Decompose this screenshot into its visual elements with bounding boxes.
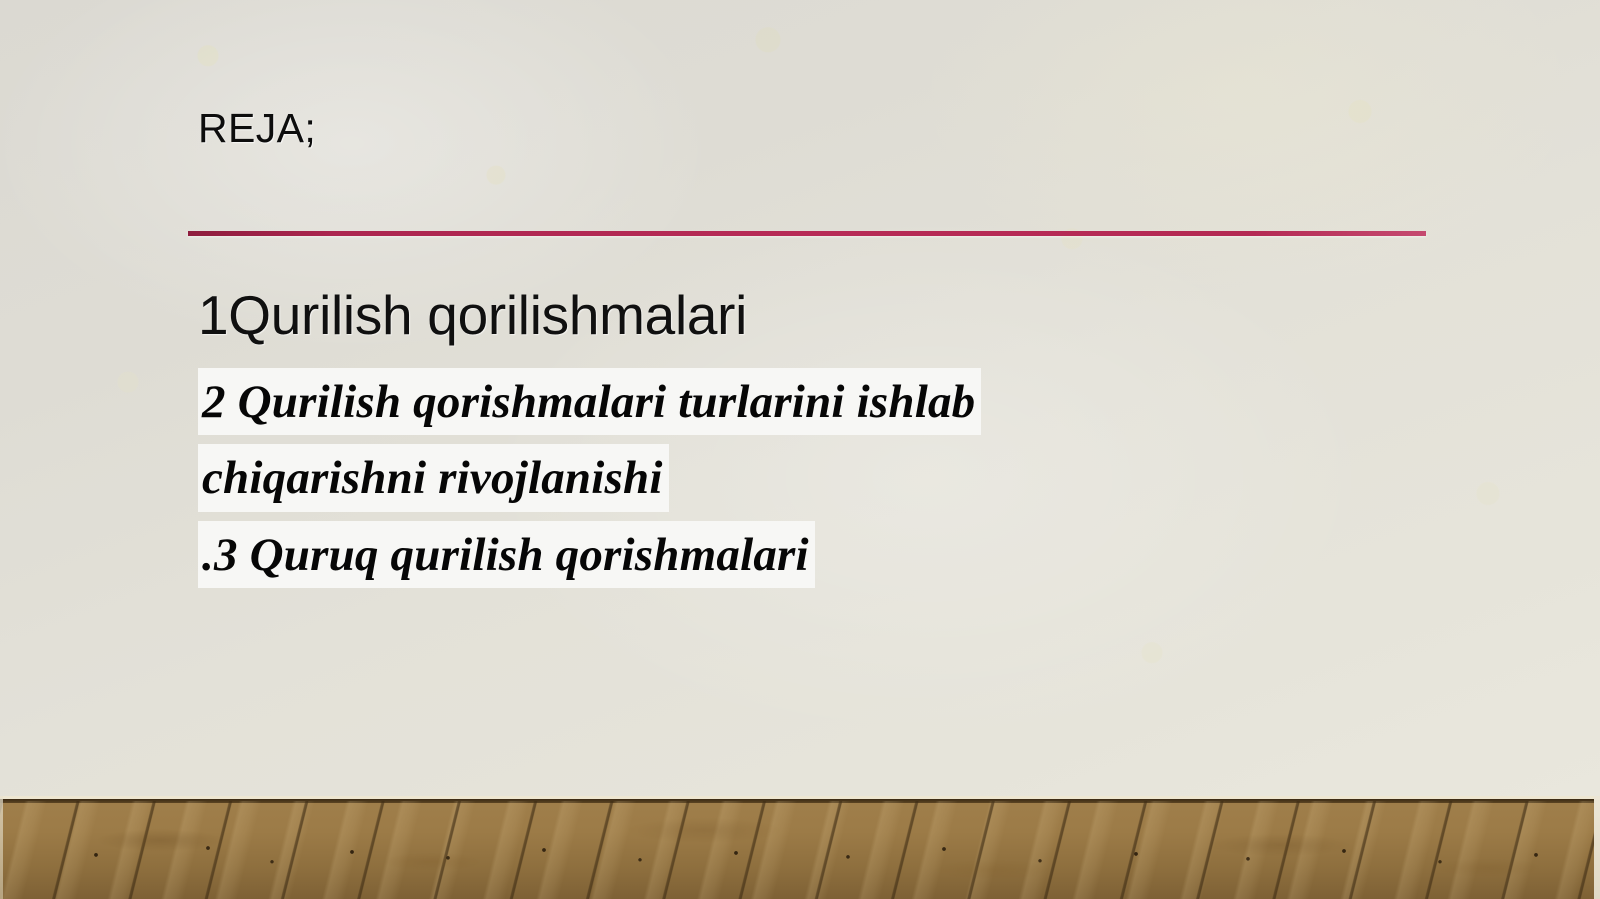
slide-body-content: 1Qurilish qorilishmalari 2 Qurilish qori…: [198, 283, 1498, 588]
agenda-item-2-continued: chiqarishni rivojlanishi: [198, 444, 669, 512]
presentation-slide: REJA; 1Qurilish qorilishmalari 2 Qurilis…: [0, 0, 1600, 899]
agenda-item-1: 1Qurilish qorilishmalari: [198, 283, 1498, 348]
slide-background-wood-floor: [0, 796, 1600, 899]
title-divider-rule: [188, 231, 1426, 236]
page-title: REJA;: [198, 105, 316, 152]
floor-right-edge: [1594, 796, 1600, 899]
floor-left-edge: [0, 796, 3, 899]
agenda-item-2: 2 Qurilish qorishmalari turlarini ishlab: [198, 368, 981, 436]
agenda-item-3: .3 Quruq qurilish qorishmalari: [198, 521, 815, 589]
floor-nail-dots: [0, 801, 1600, 899]
